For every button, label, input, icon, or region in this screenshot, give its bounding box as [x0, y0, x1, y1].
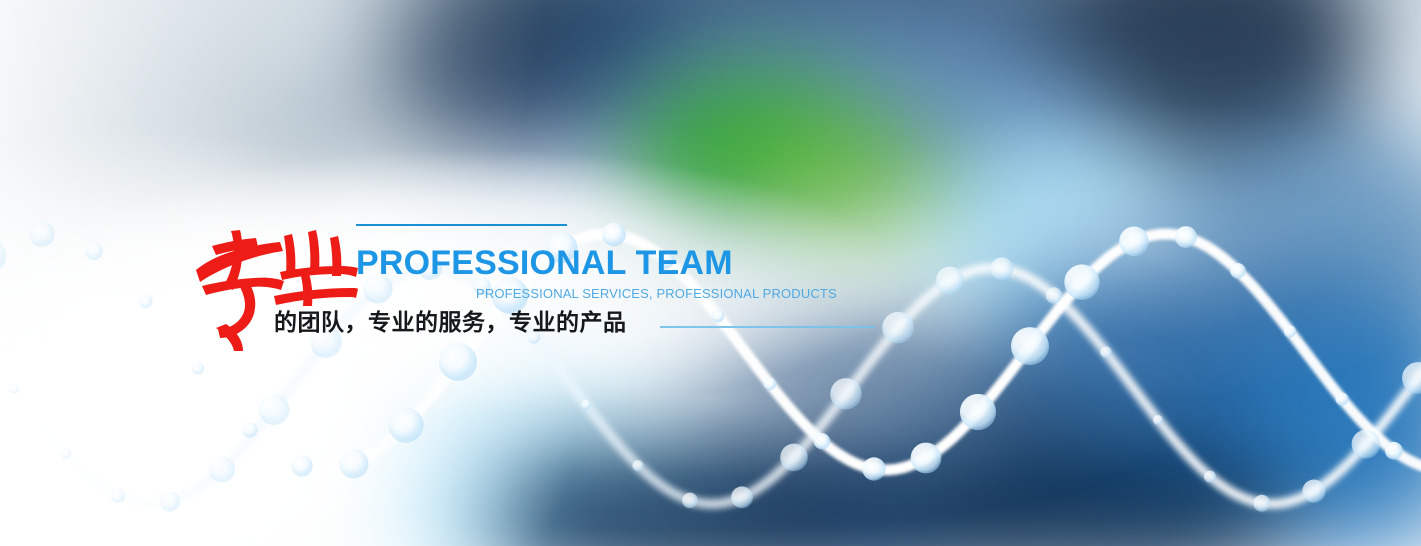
- banner-subtitle: PROFESSIONAL SERVICES, PROFESSIONAL PROD…: [476, 286, 837, 302]
- banner-tagline: 的团队，专业的服务，专业的产品: [274, 308, 627, 338]
- banner-title: PROFESSIONAL TEAM: [356, 243, 733, 283]
- title-rule-top: [356, 224, 567, 226]
- title-rule-bottom: [660, 326, 875, 328]
- hero-banner: PROFESSIONAL TEAM PROFESSIONAL SERVICES,…: [0, 0, 1421, 546]
- banner-text-block: PROFESSIONAL TEAM PROFESSIONAL SERVICES,…: [0, 0, 1421, 546]
